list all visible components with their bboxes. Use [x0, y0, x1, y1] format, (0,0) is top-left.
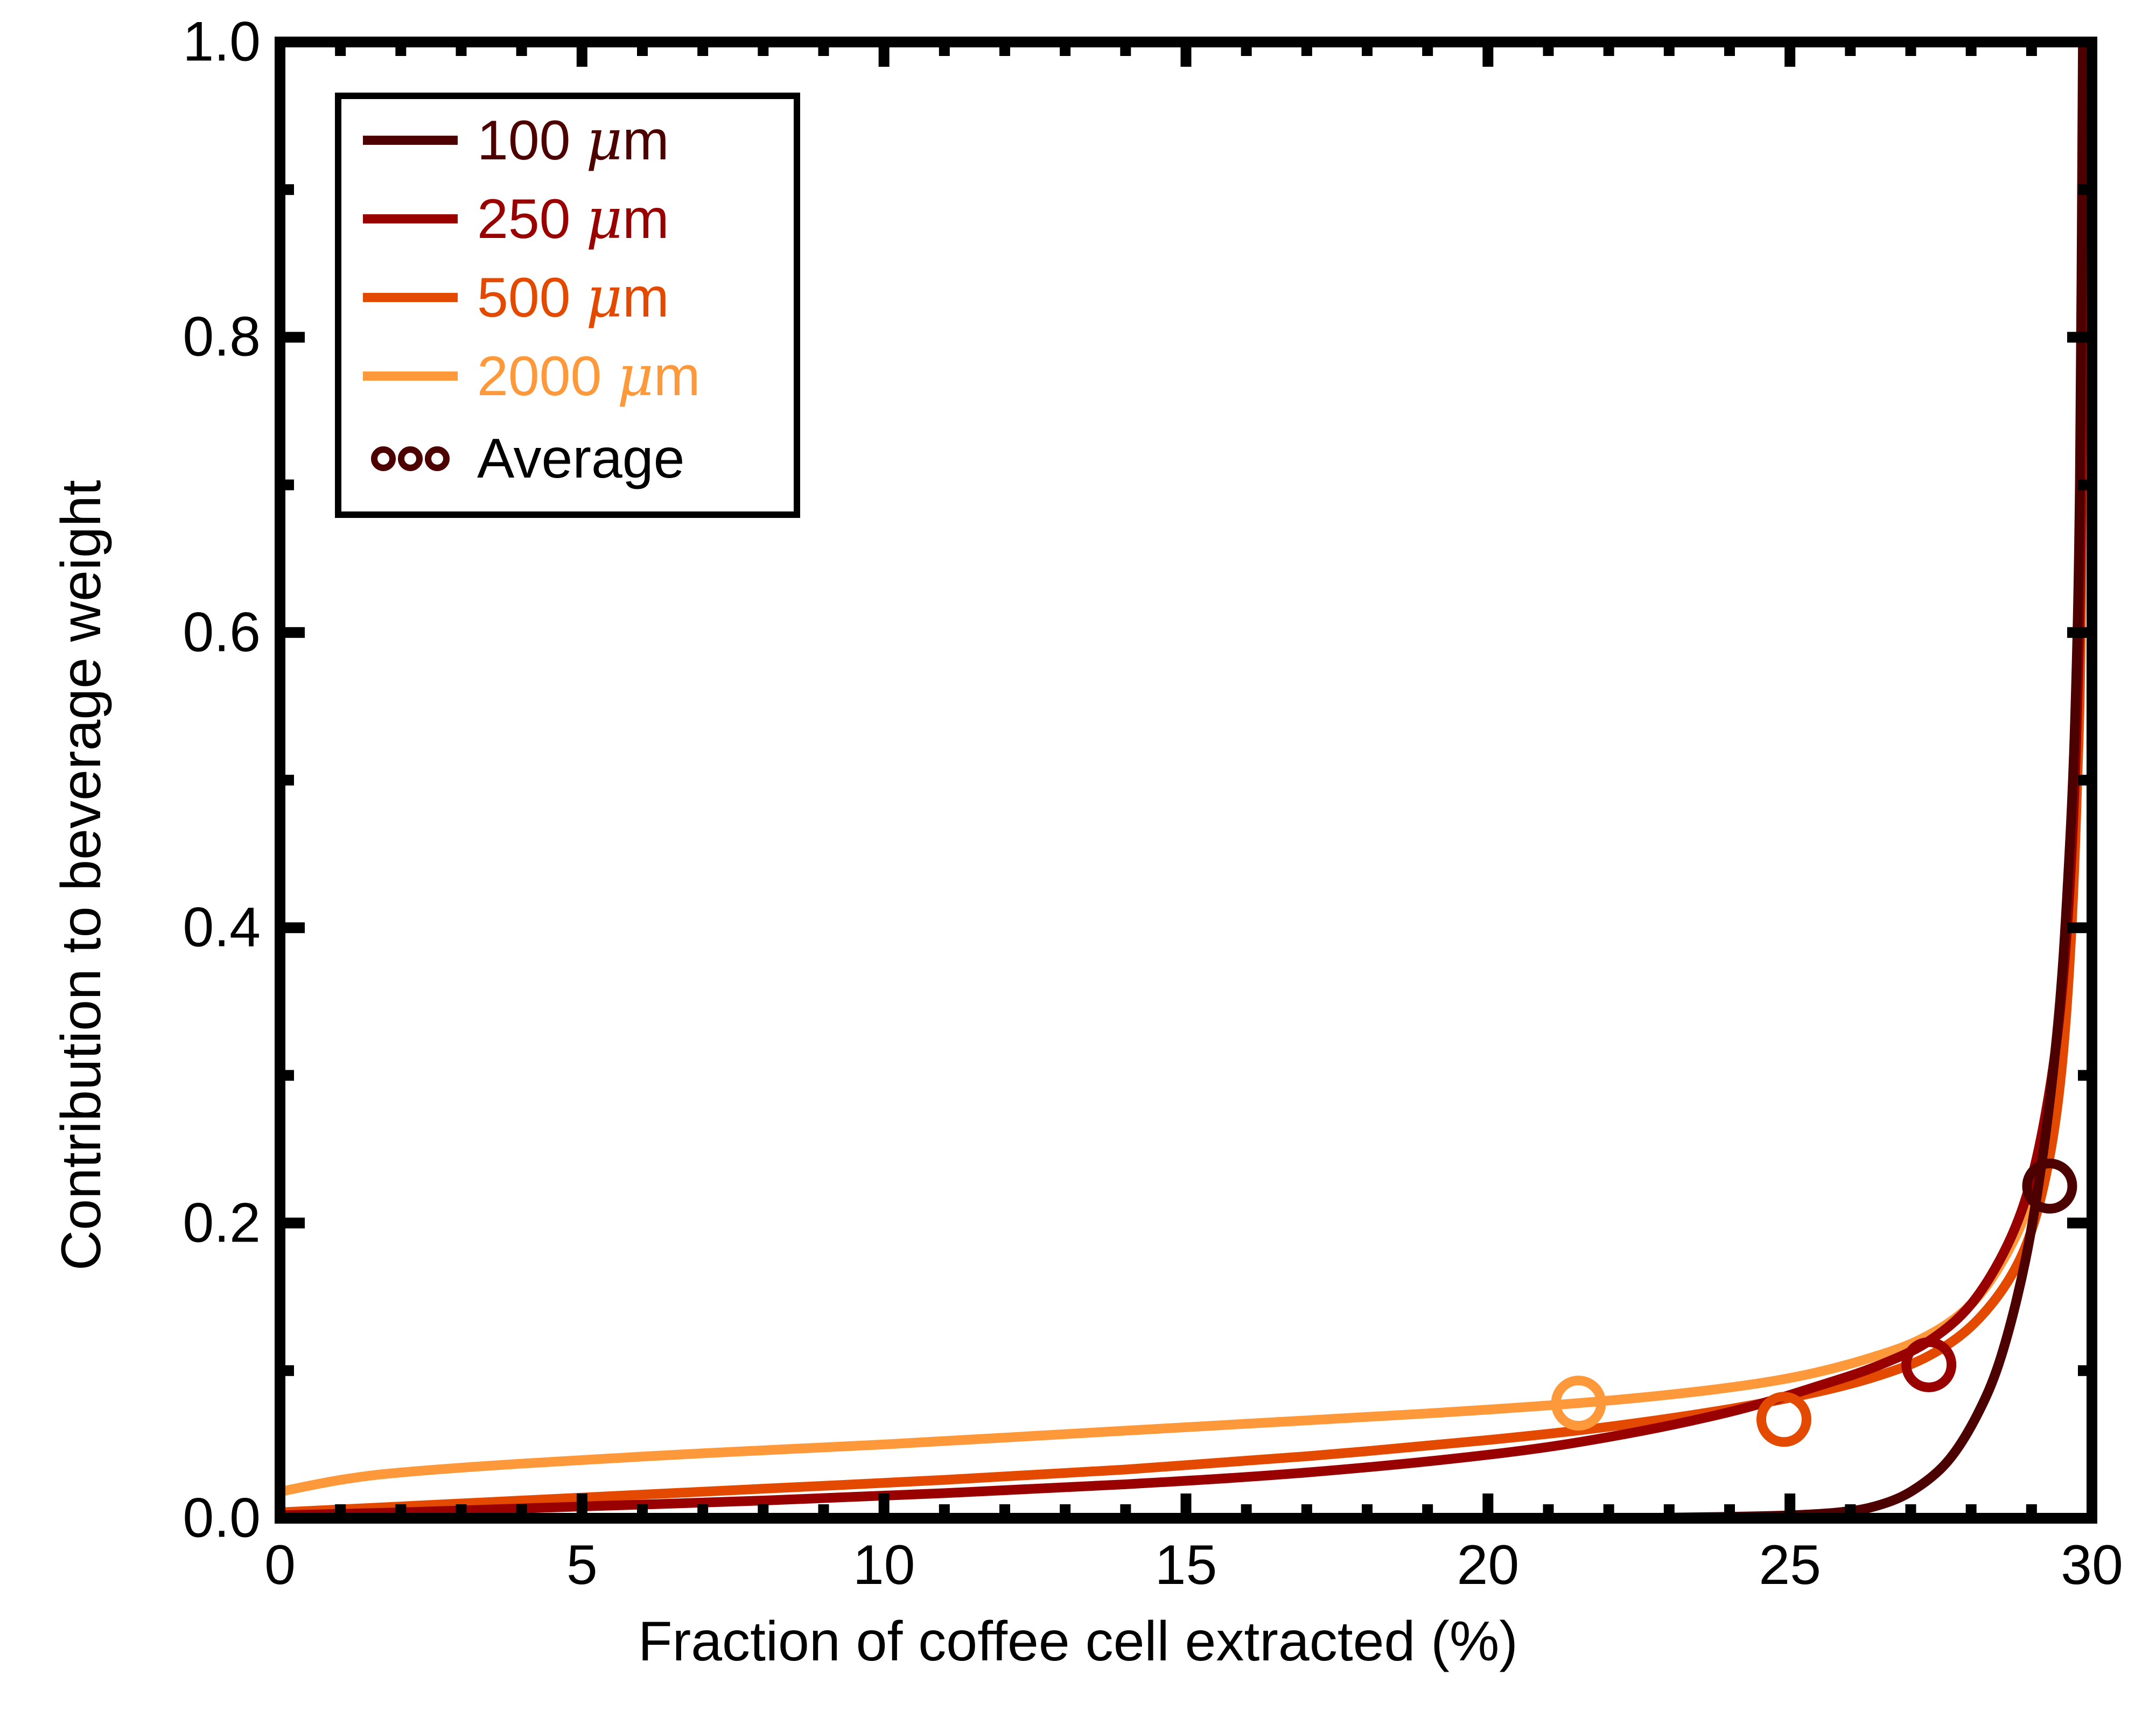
y-axis-label: Contribution to beverage weight: [50, 480, 114, 1271]
legend-swatch-100um: [363, 136, 458, 145]
chart-figure: 100 μm 250 μm 500 μm 2000 μm: [0, 0, 2156, 1725]
y-tick-label: 0.8: [183, 305, 261, 369]
circle-icon: [371, 446, 396, 471]
legend-swatch-250um: [363, 214, 458, 223]
y-tick-label: 1.0: [183, 10, 261, 74]
legend-label-500um: 500 μm: [477, 264, 669, 330]
circle-icon: [425, 446, 450, 471]
plot-canvas: [0, 0, 2156, 1725]
legend-swatch-average: [363, 446, 458, 471]
legend-swatch-2000um: [363, 371, 458, 381]
legend-label-2000um: 2000 μm: [477, 343, 701, 409]
legend-item-250um[interactable]: 250 μm: [341, 178, 794, 260]
x-tick-label: 10: [853, 1533, 915, 1597]
x-tick-label: 15: [1155, 1533, 1217, 1597]
y-tick-label: 0.4: [183, 896, 261, 960]
circle-icon: [398, 446, 423, 471]
legend-item-average[interactable]: Average: [341, 418, 794, 500]
legend-item-100um[interactable]: 100 μm: [341, 99, 794, 181]
legend: 100 μm 250 μm 500 μm 2000 μm: [335, 93, 800, 518]
legend-item-2000um[interactable]: 2000 μm: [341, 335, 794, 417]
x-axis-label: Fraction of coffee cell extracted (%): [0, 1610, 2156, 1674]
x-tick-label: 20: [1457, 1533, 1519, 1597]
y-tick-label: 0.0: [183, 1486, 261, 1551]
legend-label-average: Average: [477, 427, 684, 491]
legend-label-250um: 250 μm: [477, 186, 669, 251]
y-tick-label: 0.6: [183, 600, 261, 664]
x-tick-label: 25: [1759, 1533, 1821, 1597]
legend-swatch-500um: [363, 293, 458, 302]
y-tick-label: 0.2: [183, 1191, 261, 1255]
legend-item-500um[interactable]: 500 μm: [341, 256, 794, 338]
x-tick-label: 5: [566, 1533, 598, 1597]
x-tick-label: 30: [2061, 1533, 2123, 1597]
legend-label-100um: 100 μm: [477, 107, 669, 173]
x-tick-label: 0: [264, 1533, 296, 1597]
